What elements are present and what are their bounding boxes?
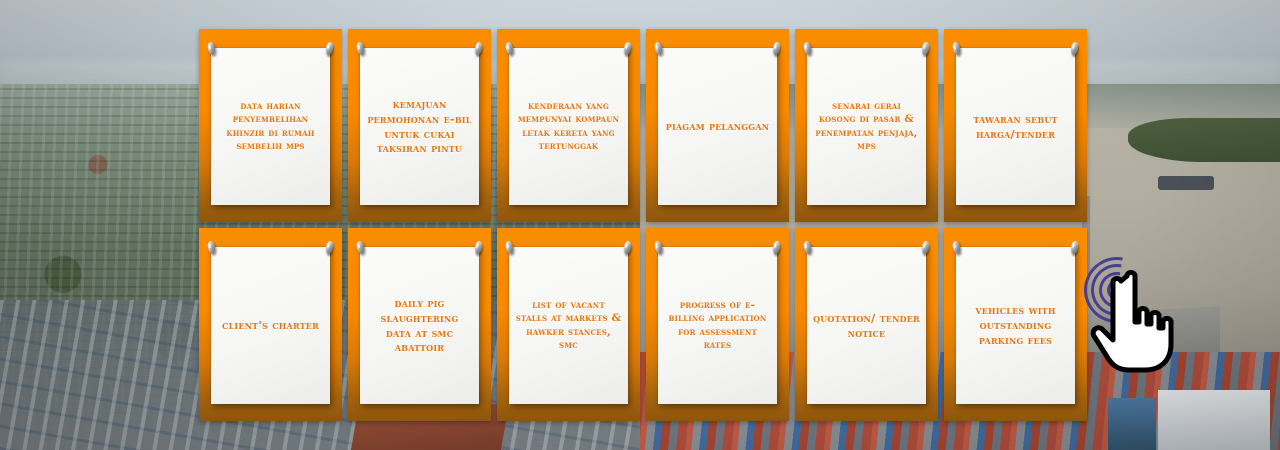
quick-link-card-quotation-tender-notice[interactable]: Quotation/ Tender Notice xyxy=(795,228,938,421)
quick-link-card-daily-pig-slaughtering-data[interactable]: Daily Pig Slaughtering Data At SMC Abatt… xyxy=(348,228,491,421)
card-title: Data Harian Penyembelihan Khinzir Di Rum… xyxy=(217,100,324,153)
pushpin-icon xyxy=(772,41,781,55)
pushpin-icon xyxy=(921,41,930,55)
card-paper: Client's Charter xyxy=(211,247,330,404)
pushpin-icon xyxy=(623,240,632,254)
pushpin-icon xyxy=(1070,41,1079,55)
pushpin-icon xyxy=(474,41,483,55)
card-paper: List Of Vacant Stalls At Markets & Hawke… xyxy=(509,247,628,404)
quick-link-card-clients-charter[interactable]: Client's Charter xyxy=(199,228,342,421)
card-paper: Daily Pig Slaughtering Data At SMC Abatt… xyxy=(360,247,479,404)
card-title: Piagam Pelanggan xyxy=(666,119,770,134)
quick-link-card-senarai-gerai-kosong[interactable]: Senarai Gerai Kosong di Pasar & Penempat… xyxy=(795,29,938,222)
pushpin-icon xyxy=(921,240,930,254)
quick-link-card-progress-of-ebilling-application[interactable]: Progress Of e-Billing Application For As… xyxy=(646,228,789,421)
card-title: List Of Vacant Stalls At Markets & Hawke… xyxy=(515,299,622,352)
pushpin-icon xyxy=(1070,240,1079,254)
card-title: Quotation/ Tender Notice xyxy=(813,311,920,341)
pushpin-icon xyxy=(772,240,781,254)
card-title: Progress Of e-Billing Application For As… xyxy=(664,299,771,352)
card-paper: Progress Of e-Billing Application For As… xyxy=(658,247,777,404)
page-stage: Data Harian Penyembelihan Khinzir Di Rum… xyxy=(0,0,1280,450)
pushpin-icon xyxy=(474,240,483,254)
card-paper: Kenderaan Yang Mempunyai Kompaun Letak K… xyxy=(509,48,628,205)
card-paper: Tawaran Sebut Harga/Tender xyxy=(956,48,1075,205)
quick-link-card-vehicles-with-outstanding-parking-fees[interactable]: Vehicles With Outstanding Parking Fees xyxy=(944,228,1087,421)
quick-link-grid: Data Harian Penyembelihan Khinzir Di Rum… xyxy=(199,29,1079,421)
pushpin-icon xyxy=(623,41,632,55)
card-paper: Quotation/ Tender Notice xyxy=(807,247,926,404)
card-paper: Vehicles With Outstanding Parking Fees xyxy=(956,247,1075,404)
card-title: Tawaran Sebut Harga/Tender xyxy=(962,112,1069,142)
card-paper: Piagam Pelanggan xyxy=(658,48,777,205)
pushpin-icon xyxy=(325,240,334,254)
quick-link-card-list-of-vacant-stalls[interactable]: List Of Vacant Stalls At Markets & Hawke… xyxy=(497,228,640,421)
card-title: Vehicles With Outstanding Parking Fees xyxy=(962,303,1069,348)
card-paper: Data Harian Penyembelihan Khinzir Di Rum… xyxy=(211,48,330,205)
card-title: Client's Charter xyxy=(222,318,319,333)
quick-link-card-kemajuan-permohonan-ebil[interactable]: Kemajuan Permohonan e-Bil Untuk Cukai Ta… xyxy=(348,29,491,222)
quick-link-card-kenderaan-kompaun-letak-kereta[interactable]: Kenderaan Yang Mempunyai Kompaun Letak K… xyxy=(497,29,640,222)
card-title: Daily Pig Slaughtering Data At SMC Abatt… xyxy=(366,296,473,356)
card-title: Senarai Gerai Kosong di Pasar & Penempat… xyxy=(813,100,920,153)
card-title: Kemajuan Permohonan e-Bil Untuk Cukai Ta… xyxy=(366,97,473,157)
quick-link-card-piagam-pelanggan[interactable]: Piagam Pelanggan xyxy=(646,29,789,222)
quick-link-card-tawaran-sebut-harga-tender[interactable]: Tawaran Sebut Harga/Tender xyxy=(944,29,1087,222)
pushpin-icon xyxy=(325,41,334,55)
quick-link-row-2: Client's Charter Daily Pig Slaughtering … xyxy=(199,228,1079,421)
card-paper: Senarai Gerai Kosong di Pasar & Penempat… xyxy=(807,48,926,205)
quick-link-row-1: Data Harian Penyembelihan Khinzir Di Rum… xyxy=(199,29,1079,222)
card-paper: Kemajuan Permohonan e-Bil Untuk Cukai Ta… xyxy=(360,48,479,205)
quick-link-card-data-harian-penyembelihan[interactable]: Data Harian Penyembelihan Khinzir Di Rum… xyxy=(199,29,342,222)
card-title: Kenderaan Yang Mempunyai Kompaun Letak K… xyxy=(515,100,622,153)
